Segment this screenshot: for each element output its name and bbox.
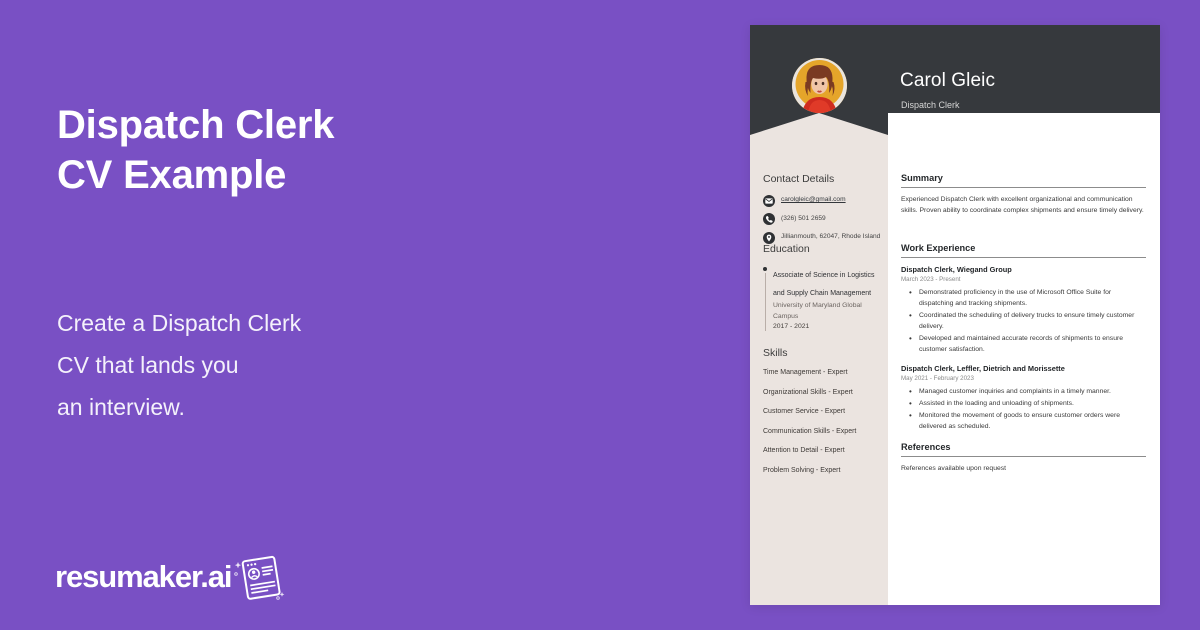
timeline-dot-icon <box>763 267 767 271</box>
cv-candidate-name: Carol Gleic <box>900 70 995 92</box>
cv-contact-heading: Contact Details <box>763 173 881 185</box>
cv-education-degree: Associate of Science in Logistics and Su… <box>773 272 875 297</box>
envelope-icon <box>763 195 775 207</box>
page-subtitle: Create a Dispatch Clerk CV that lands yo… <box>57 302 487 428</box>
phone-icon <box>763 213 775 225</box>
page-title: Dispatch Clerk CV Example <box>57 100 527 200</box>
cv-work-experience-heading: Work Experience <box>901 243 1146 258</box>
cv-job-title: Dispatch Clerk, Leffler, Dietrich and Mo… <box>901 363 1146 374</box>
location-pin-icon <box>763 232 775 244</box>
cv-job-dates: May 2021 - February 2023 <box>901 374 1146 384</box>
cv-education-dates: 2017 - 2021 <box>773 322 881 333</box>
cv-contact-section: Contact Details carolgleic@gmail.com (32… <box>763 173 881 250</box>
cv-skill-item: Customer Service - Expert <box>763 407 881 417</box>
cv-summary-heading: Summary <box>901 173 1146 188</box>
cv-work-experience-section: Work Experience Dispatch Clerk, Wiegand … <box>901 243 1146 440</box>
brand-logo-text: resumaker.ai <box>55 559 231 595</box>
cv-job-entry: Dispatch Clerk, Wiegand Group March 2023… <box>901 264 1146 355</box>
cv-job-title: Dispatch Clerk, Wiegand Group <box>901 264 1146 275</box>
page-title-line-1: Dispatch Clerk <box>57 100 527 150</box>
cv-skill-item: Communication Skills - Expert <box>763 427 881 437</box>
cv-skill-item: Organizational Skills - Expert <box>763 388 881 398</box>
cv-job-bullet: Demonstrated proficiency in the use of M… <box>901 287 1146 309</box>
cv-skills-heading: Skills <box>763 347 881 359</box>
cv-job-entry: Dispatch Clerk, Leffler, Dietrich and Mo… <box>901 363 1146 432</box>
cv-skill-item: Problem Solving - Expert <box>763 466 881 476</box>
cv-contact-item-phone: (326) 501 2659 <box>763 213 881 226</box>
page-subtitle-line-3: an interview. <box>57 386 487 428</box>
cv-summary-text: Experienced Dispatch Clerk with excellen… <box>901 194 1146 216</box>
cv-job-bullet: Monitored the movement of goods to ensur… <box>901 410 1146 432</box>
cv-contact-item-location: Jillianmouth, 62047, Rhode Island <box>763 231 881 244</box>
cv-candidate-role: Dispatch Clerk <box>901 100 960 110</box>
cv-job-bullet: Coordinated the scheduling of delivery t… <box>901 310 1146 332</box>
cv-education-heading: Education <box>763 243 881 255</box>
page-subtitle-line-2: CV that lands you <box>57 344 487 386</box>
cv-contact-phone: (326) 501 2659 <box>781 213 826 225</box>
cv-skills-section: Skills Time Management - Expert Organiza… <box>763 347 881 485</box>
cv-references-section: References References available upon req… <box>901 442 1146 474</box>
avatar <box>792 58 847 113</box>
brand-logo[interactable]: resumaker.ai <box>55 552 287 602</box>
cv-summary-section: Summary Experienced Dispatch Clerk with … <box>901 173 1146 216</box>
resume-document-icon <box>233 552 287 602</box>
cv-contact-location: Jillianmouth, 62047, Rhode Island <box>781 231 880 243</box>
cv-job-bullet-list: Demonstrated proficiency in the use of M… <box>901 287 1146 355</box>
page-title-line-2: CV Example <box>57 150 527 200</box>
cv-header-notch-decoration <box>750 113 888 135</box>
cv-job-bullet: Assisted in the loading and unloading of… <box>901 398 1146 409</box>
page-subtitle-line-1: Create a Dispatch Clerk <box>57 302 487 344</box>
timeline-line <box>765 273 766 331</box>
cv-job-bullet-list: Managed customer inquiries and complaint… <box>901 386 1146 432</box>
cv-job-bullet: Developed and maintained accurate record… <box>901 333 1146 355</box>
cv-preview[interactable]: Carol Gleic Dispatch Clerk Contact Detai… <box>750 25 1160 605</box>
cv-skill-item: Time Management - Expert <box>763 368 881 378</box>
cv-job-bullet: Managed customer inquiries and complaint… <box>901 386 1146 397</box>
cv-references-heading: References <box>901 442 1146 457</box>
cv-education-school: University of Maryland Global Campus <box>773 301 881 322</box>
cv-contact-item-email[interactable]: carolgleic@gmail.com <box>763 194 881 207</box>
cv-education-section: Education Associate of Science in Logist… <box>763 243 881 333</box>
cv-skill-item: Attention to Detail - Expert <box>763 446 881 456</box>
cv-job-dates: March 2023 - Present <box>901 275 1146 285</box>
cv-education-item: Associate of Science in Logistics and Su… <box>763 264 881 333</box>
timeline-marker <box>763 264 773 333</box>
promo-panel: Dispatch Clerk CV Example Create a Dispa… <box>0 0 750 630</box>
cv-contact-email[interactable]: carolgleic@gmail.com <box>781 194 846 206</box>
cv-references-text: References available upon request <box>901 463 1146 474</box>
